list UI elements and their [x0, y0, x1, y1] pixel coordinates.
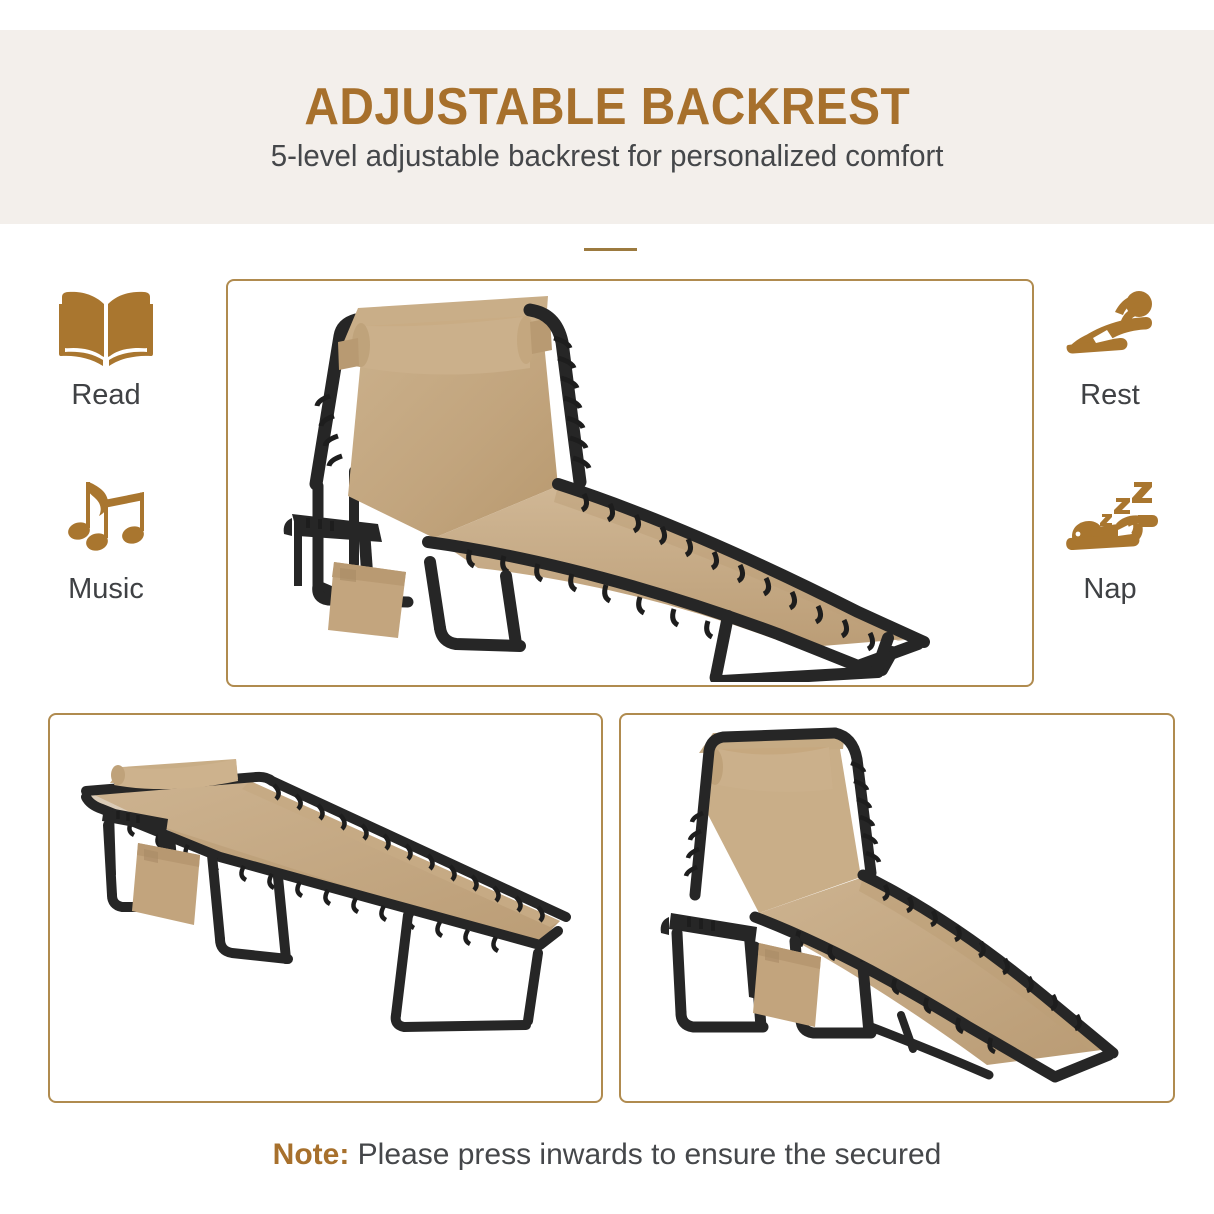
product-panel-reclined	[619, 713, 1175, 1103]
page-subtitle: 5-level adjustable backrest for personal…	[271, 139, 944, 173]
page-title: ADJUSTABLE BACKREST	[304, 81, 910, 133]
note-row: Note: Please press inwards to ensure the…	[0, 1138, 1214, 1172]
feature-item-read: Read	[26, 282, 186, 412]
person-resting-icon	[1060, 282, 1160, 368]
music-notes-icon	[56, 476, 156, 562]
person-napping-icon	[1060, 476, 1160, 562]
feature-label-music: Music	[68, 574, 144, 606]
feature-label-read: Read	[71, 380, 140, 412]
note-text: Please press inwards to ensure the secur…	[358, 1138, 942, 1171]
feature-item-music: Music	[26, 476, 186, 606]
header-band: ADJUSTABLE BACKREST 5-level adjustable b…	[0, 30, 1214, 224]
feature-column-left: Read Music	[26, 282, 186, 606]
product-panel-main	[226, 279, 1034, 687]
note-label: Note:	[273, 1138, 358, 1171]
product-panel-flat	[48, 713, 603, 1103]
product-image-flat-bed	[60, 745, 600, 1085]
feature-item-nap: Nap	[1030, 476, 1190, 606]
section-divider-dash	[584, 248, 637, 251]
feature-label-nap: Nap	[1083, 574, 1136, 606]
open-book-icon	[56, 282, 156, 368]
product-image-reclined-upright	[258, 286, 1008, 682]
product-image-reclined-low	[639, 727, 1159, 1097]
feature-label-rest: Rest	[1080, 380, 1140, 412]
feature-item-rest: Rest	[1030, 282, 1190, 412]
feature-column-right: Rest	[1030, 282, 1190, 606]
